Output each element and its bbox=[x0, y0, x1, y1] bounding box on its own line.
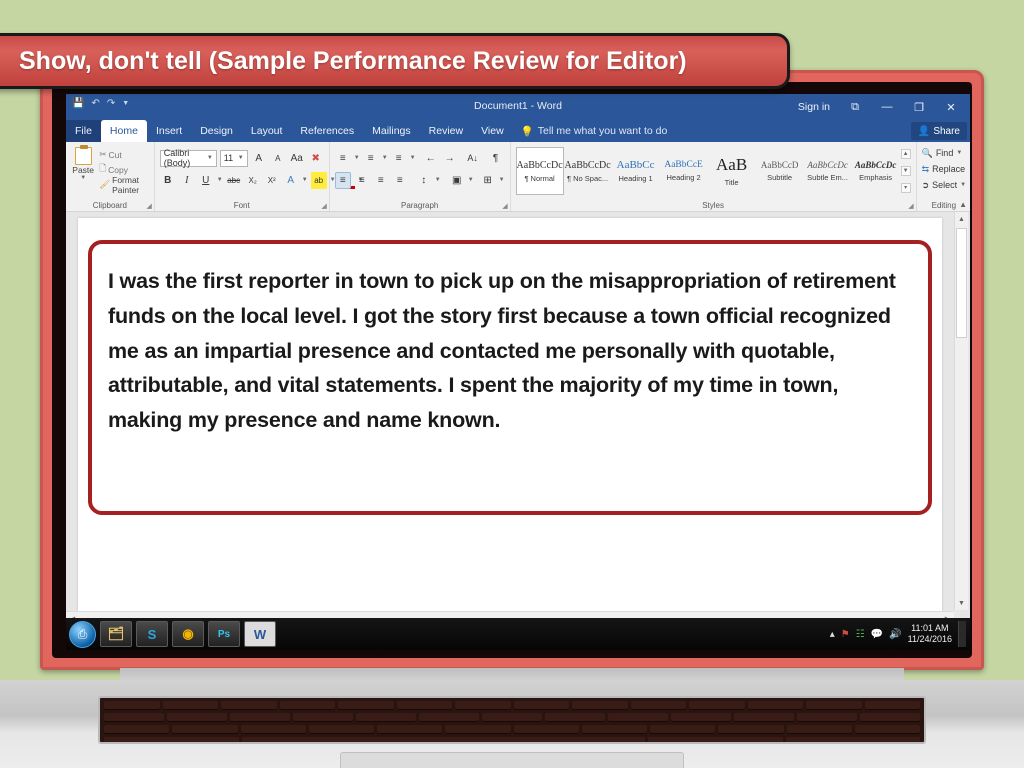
key bbox=[572, 701, 628, 710]
title-banner: Show, don't tell (Sample Performance Rev… bbox=[0, 33, 790, 89]
key bbox=[104, 701, 160, 710]
key bbox=[230, 713, 290, 722]
word-window: 💾 ↶ ↷ ▼ Document1 - Word Sign in ⧉ — ❐ ✕ bbox=[66, 94, 970, 650]
chevron-down-icon[interactable]: ▼ bbox=[956, 150, 962, 156]
style-preview: AaBbCcDc bbox=[517, 160, 563, 171]
key bbox=[445, 725, 510, 734]
chevron-down-icon[interactable]: ▼ bbox=[80, 175, 86, 181]
chevron-down-icon[interactable]: ▼ bbox=[468, 177, 474, 183]
key bbox=[786, 737, 921, 744]
laptop-body bbox=[0, 680, 1024, 768]
scroll-down-icon[interactable]: ▼ bbox=[955, 596, 968, 610]
sign-in-button[interactable]: Sign in bbox=[790, 98, 838, 116]
keyboard-row bbox=[104, 701, 920, 710]
tab-layout[interactable]: Layout bbox=[242, 120, 292, 142]
italic-button[interactable]: I bbox=[179, 172, 195, 189]
style-heading-1[interactable]: AaBbCс Heading 1 bbox=[612, 147, 660, 195]
align-center-button[interactable]: ≡ bbox=[354, 172, 370, 189]
key bbox=[293, 713, 353, 722]
style-label: Subtitle bbox=[767, 173, 792, 182]
font-dialog-launcher-icon[interactable]: ◢ bbox=[321, 202, 326, 210]
key bbox=[514, 725, 579, 734]
key bbox=[172, 725, 237, 734]
style-subtle-emphasis[interactable]: AaBbCcDc Subtle Em... bbox=[804, 147, 852, 195]
chevron-down-icon[interactable]: ▼ bbox=[960, 182, 966, 188]
style-label: Heading 2 bbox=[666, 173, 700, 182]
styles-gallery: AaBbCcDc ¶ Normal AaBbCcDc ¶ No Spac... … bbox=[516, 145, 911, 195]
select-button[interactable]: ➲ Select ▼ bbox=[922, 177, 967, 193]
key bbox=[309, 725, 374, 734]
style-label: ¶ No Spac... bbox=[567, 174, 608, 183]
ribbon-group-styles: AaBbCcDc ¶ Normal AaBbCcDc ¶ No Spac... … bbox=[511, 142, 917, 211]
minimize-button[interactable]: — bbox=[872, 97, 902, 117]
cursor-icon: ➲ bbox=[922, 180, 930, 191]
ribbon: Paste ▼ ✂ Cut 🗋 Copy bbox=[66, 142, 970, 212]
style-subtitle[interactable]: AaBbCcD Subtitle bbox=[756, 147, 804, 195]
chevron-down-icon[interactable]: ▼ bbox=[207, 155, 213, 161]
replace-icon: ⇆ bbox=[922, 164, 930, 175]
style-heading-2[interactable]: AaBbCcE Heading 2 bbox=[660, 147, 708, 195]
close-button[interactable]: ✕ bbox=[936, 97, 966, 117]
keyboard-row bbox=[104, 737, 920, 744]
style-emphasis[interactable]: AaBbCcDc Emphasis bbox=[852, 147, 900, 195]
laptop-bezel: 💾 ↶ ↷ ▼ Document1 - Word Sign in ⧉ — ❐ ✕ bbox=[52, 82, 972, 658]
tell-me-search[interactable]: 💡 Tell me what you want to do bbox=[513, 120, 668, 142]
strikethrough-button[interactable]: abc bbox=[226, 172, 242, 189]
key bbox=[280, 701, 336, 710]
ribbon-group-paragraph: ≡ ▼ ≡ ▼ ≡ ▼ ← → A↓ ¶ ≡ bbox=[330, 142, 511, 211]
laptop-keyboard bbox=[98, 696, 926, 744]
key bbox=[338, 701, 394, 710]
find-label: Find bbox=[936, 148, 954, 158]
key bbox=[104, 737, 239, 744]
subscript-button[interactable]: X₂ bbox=[245, 172, 261, 189]
tab-review[interactable]: Review bbox=[420, 120, 472, 142]
tab-home[interactable]: Home bbox=[101, 120, 147, 142]
ribbon-tab-bar: File Home Insert Design Layout Reference… bbox=[66, 120, 970, 142]
word-icon[interactable]: W bbox=[244, 621, 276, 647]
style-preview: AaBbCcD bbox=[761, 160, 799, 170]
font-name-value: Calibri (Body) bbox=[164, 148, 207, 168]
tab-view[interactable]: View bbox=[472, 120, 513, 142]
tab-design[interactable]: Design bbox=[191, 120, 242, 142]
style-preview: AaBbCcDc bbox=[807, 160, 848, 170]
text-effects-button[interactable]: A bbox=[283, 172, 299, 189]
numbering-button[interactable]: ≡ bbox=[363, 150, 379, 167]
decrease-indent-button[interactable]: ← bbox=[423, 150, 439, 167]
style-label: Title bbox=[725, 178, 739, 187]
clipboard-dialog-launcher-icon[interactable]: ◢ bbox=[146, 202, 151, 210]
style-preview: AaB bbox=[716, 155, 747, 175]
group-label-font: Font bbox=[155, 201, 329, 210]
photoshop-icon[interactable]: Ps bbox=[208, 621, 240, 647]
vertical-scroll-thumb[interactable] bbox=[956, 228, 967, 338]
clipboard-icon bbox=[75, 147, 92, 165]
window-controls: Sign in ⧉ — ❐ ✕ bbox=[790, 97, 966, 117]
chevron-down-icon[interactable]: ▼ bbox=[435, 177, 441, 183]
start-orb-icon[interactable]: ⎙ bbox=[69, 621, 96, 648]
chevron-down-icon[interactable]: ▼ bbox=[238, 155, 244, 161]
borders-button[interactable]: ⊞ bbox=[480, 172, 496, 189]
chevron-down-icon[interactable]: ▼ bbox=[499, 177, 505, 183]
line-spacing-button[interactable]: ↕ bbox=[416, 172, 432, 189]
bold-button[interactable]: B bbox=[160, 172, 176, 189]
key bbox=[631, 701, 687, 710]
key bbox=[787, 725, 852, 734]
key bbox=[514, 701, 570, 710]
style-preview: AaBbCс bbox=[617, 159, 655, 171]
laptop-base bbox=[0, 668, 1024, 768]
style-label: Emphasis bbox=[859, 173, 892, 182]
key bbox=[356, 713, 416, 722]
key bbox=[397, 701, 453, 710]
tab-mailings[interactable]: Mailings bbox=[363, 120, 420, 142]
styles-gallery-scroll[interactable]: ▲ ▼ ▾ bbox=[900, 147, 911, 195]
font-name-input[interactable]: Calibri (Body) ▼ bbox=[160, 150, 217, 167]
bullets-button[interactable]: ≡ bbox=[335, 150, 351, 167]
share-button[interactable]: 👤 Share bbox=[911, 122, 967, 140]
key bbox=[865, 701, 921, 710]
chevron-down-icon[interactable]: ▼ bbox=[382, 155, 388, 161]
key bbox=[671, 713, 731, 722]
chevron-down-icon[interactable]: ▼ bbox=[410, 155, 416, 161]
chevron-down-icon[interactable]: ▼ bbox=[217, 177, 223, 183]
key bbox=[545, 713, 605, 722]
laptop-frame: 💾 ↶ ↷ ▼ Document1 - Word Sign in ⧉ — ❐ ✕ bbox=[40, 70, 984, 670]
tab-references[interactable]: References bbox=[291, 120, 363, 142]
clock[interactable]: 11:01 AM 11/24/2016 bbox=[908, 623, 952, 645]
key bbox=[689, 701, 745, 710]
scroll-up-icon[interactable]: ▲ bbox=[955, 212, 968, 226]
tell-me-label: Tell me what you want to do bbox=[538, 125, 668, 137]
chevron-down-icon[interactable]: ▼ bbox=[302, 177, 308, 183]
align-left-button[interactable]: ≡ bbox=[335, 172, 351, 189]
grow-font-button[interactable]: A bbox=[251, 150, 267, 167]
show-desktop-button[interactable] bbox=[958, 621, 966, 647]
search-icon: 🔍 bbox=[922, 148, 933, 159]
clock-time: 11:01 AM bbox=[908, 623, 952, 634]
keyboard-row bbox=[104, 713, 920, 722]
security-icon[interactable]: ⚑ bbox=[841, 629, 850, 640]
action-center-icon[interactable]: 💬 bbox=[871, 629, 883, 640]
scroll-up-icon[interactable]: ▲ bbox=[901, 149, 911, 159]
key bbox=[648, 737, 783, 744]
font-size-input[interactable]: 11 ▼ bbox=[220, 150, 248, 167]
find-button[interactable]: 🔍 Find ▼ bbox=[922, 145, 967, 161]
increase-indent-button[interactable]: → bbox=[442, 150, 458, 167]
style-preview: AaBbCcE bbox=[664, 160, 703, 170]
sort-button[interactable]: A↓ bbox=[465, 150, 481, 167]
laptop-screen: 💾 ↶ ↷ ▼ Document1 - Word Sign in ⧉ — ❐ ✕ bbox=[66, 94, 970, 650]
select-label: Select bbox=[932, 180, 957, 190]
volume-icon[interactable]: 🔊 bbox=[889, 629, 901, 640]
windows-taskbar: ⎙ 🗂 S ◉ Ps W ▴ ⚑ ☷ 💬 🔊 11:01 AM 11/24/20… bbox=[66, 618, 970, 650]
laptop-trackpad bbox=[340, 752, 684, 768]
shading-button[interactable]: ▣ bbox=[449, 172, 465, 189]
key bbox=[104, 713, 164, 722]
styles-dialog-launcher-icon[interactable]: ◢ bbox=[908, 202, 913, 210]
vertical-scrollbar[interactable]: ▲ ▼ bbox=[954, 212, 968, 610]
underline-button[interactable]: U bbox=[198, 172, 214, 189]
document-area: I was the first reporter in town to pick… bbox=[66, 212, 970, 624]
group-label-styles: Styles bbox=[511, 201, 916, 210]
key bbox=[855, 725, 920, 734]
document-body-text[interactable]: I was the first reporter in town to pick… bbox=[108, 264, 912, 438]
paste-label: Paste bbox=[72, 165, 94, 175]
key bbox=[797, 713, 857, 722]
key bbox=[482, 713, 542, 722]
file-explorer-icon[interactable]: 🗂 bbox=[100, 621, 132, 647]
cut-button[interactable]: ✂ Cut bbox=[99, 147, 148, 162]
person-add-icon: 👤 bbox=[918, 126, 930, 137]
copy-label: Copy bbox=[108, 165, 128, 175]
key bbox=[806, 701, 862, 710]
cut-label: Cut bbox=[108, 150, 121, 160]
key bbox=[860, 713, 920, 722]
styles-more-icon[interactable]: ▾ bbox=[901, 183, 911, 193]
chrome-icon[interactable]: ◉ bbox=[172, 621, 204, 647]
replace-label: Replace bbox=[932, 164, 965, 174]
network-icon[interactable]: ☷ bbox=[856, 629, 865, 640]
key bbox=[608, 713, 668, 722]
scissors-icon: ✂ bbox=[99, 149, 106, 160]
keyboard-row bbox=[104, 725, 920, 734]
key bbox=[221, 701, 277, 710]
paragraph-dialog-launcher-icon[interactable]: ◢ bbox=[502, 202, 507, 210]
document-page[interactable]: I was the first reporter in town to pick… bbox=[78, 218, 942, 624]
collapse-ribbon-icon[interactable]: ▲ bbox=[959, 200, 967, 209]
skype-icon[interactable]: S bbox=[136, 621, 168, 647]
share-label: Share bbox=[933, 126, 960, 137]
style-label: Subtle Em... bbox=[807, 173, 848, 182]
restore-button[interactable]: ❐ bbox=[904, 97, 934, 117]
tab-file[interactable]: File bbox=[66, 120, 101, 142]
paste-button[interactable]: Paste ▼ bbox=[71, 145, 95, 192]
style-normal[interactable]: AaBbCcDc ¶ Normal bbox=[516, 147, 564, 195]
key bbox=[104, 725, 169, 734]
style-no-spacing[interactable]: AaBbCcDc ¶ No Spac... bbox=[564, 147, 612, 195]
ribbon-group-clipboard: Paste ▼ ✂ Cut 🗋 Copy bbox=[66, 142, 155, 211]
justify-button[interactable]: ≡ bbox=[392, 172, 408, 189]
paintbrush-icon: 🖌 bbox=[99, 179, 110, 190]
align-right-button[interactable]: ≡ bbox=[373, 172, 389, 189]
clock-date: 11/24/2016 bbox=[908, 634, 952, 645]
key bbox=[419, 713, 479, 722]
style-preview: AaBbCcDc bbox=[855, 160, 897, 170]
key bbox=[163, 701, 219, 710]
highlighted-text-box: I was the first reporter in town to pick… bbox=[88, 240, 932, 515]
clear-formatting-icon[interactable]: ✖ bbox=[308, 150, 324, 167]
group-label-clipboard: Clipboard bbox=[66, 201, 154, 210]
replace-button[interactable]: ⇆ Replace bbox=[922, 161, 967, 177]
window-title-bar: 💾 ↶ ↷ ▼ Document1 - Word Sign in ⧉ — ❐ ✕ bbox=[66, 94, 970, 120]
font-size-value: 11 bbox=[224, 153, 233, 163]
shrink-font-button[interactable]: A bbox=[270, 150, 286, 167]
format-painter-button[interactable]: 🖌 Format Painter bbox=[99, 177, 148, 192]
style-label: ¶ Normal bbox=[524, 174, 554, 183]
chevron-down-icon[interactable]: ▼ bbox=[354, 155, 360, 161]
system-tray: ▴ ⚑ ☷ 💬 🔊 11:01 AM 11/24/2016 bbox=[830, 621, 970, 647]
scroll-down-icon[interactable]: ▼ bbox=[901, 166, 911, 176]
key bbox=[455, 701, 511, 710]
change-case-button[interactable]: Aa bbox=[289, 150, 305, 167]
key bbox=[650, 725, 715, 734]
format-painter-label: Format Painter bbox=[112, 175, 149, 195]
key bbox=[167, 713, 227, 722]
key bbox=[582, 725, 647, 734]
ribbon-display-options-icon[interactable]: ⧉ bbox=[840, 97, 870, 117]
show-hidden-icons-icon[interactable]: ▴ bbox=[830, 629, 835, 640]
group-label-paragraph: Paragraph bbox=[330, 201, 510, 210]
show-formatting-marks-button[interactable]: ¶ bbox=[488, 150, 504, 167]
banner-text: Show, don't tell (Sample Performance Rev… bbox=[0, 47, 687, 76]
ribbon-group-font: Calibri (Body) ▼ 11 ▼ A A Aa ✖ bbox=[155, 142, 330, 211]
copy-icon: 🗋 bbox=[99, 163, 106, 177]
multilevel-list-button[interactable]: ≡ bbox=[391, 150, 407, 167]
key bbox=[734, 713, 794, 722]
key bbox=[718, 725, 783, 734]
highlight-button[interactable]: ab bbox=[311, 172, 327, 189]
tab-insert[interactable]: Insert bbox=[147, 120, 191, 142]
style-title[interactable]: AaB Title bbox=[708, 147, 756, 195]
key bbox=[377, 725, 442, 734]
key bbox=[748, 701, 804, 710]
style-preview: AaBbCcDc bbox=[565, 160, 611, 171]
style-label: Heading 1 bbox=[618, 174, 652, 183]
key bbox=[241, 725, 306, 734]
superscript-button[interactable]: X² bbox=[264, 172, 280, 189]
lightbulb-icon: 💡 bbox=[521, 125, 534, 138]
spacebar-key bbox=[242, 737, 646, 744]
